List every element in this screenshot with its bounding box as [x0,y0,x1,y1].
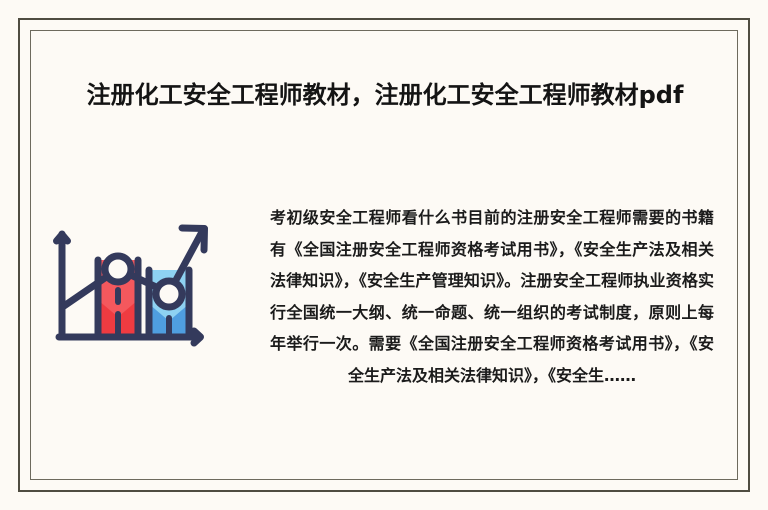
content-row: 考初级安全工程师看什么书目前的注册安全工程师需要的书籍有《全国注册安全工程师资格… [0,196,768,426]
page-title-text: 注册化工安全工程师教材，注册化工安全工程师教材pdf [64,78,706,112]
page-root: 注册化工安全工程师教材，注册化工安全工程师教材pdf [0,0,768,510]
article-body: 考初级安全工程师看什么书目前的注册安全工程师需要的书籍有《全国注册安全工程师资格… [270,202,714,391]
page-title: 注册化工安全工程师教材，注册化工安全工程师教材pdf [64,78,706,112]
article-body-text: 考初级安全工程师看什么书目前的注册安全工程师需要的书籍有《全国注册安全工程师资格… [270,202,714,391]
bar-chart-growth-icon [48,218,216,358]
